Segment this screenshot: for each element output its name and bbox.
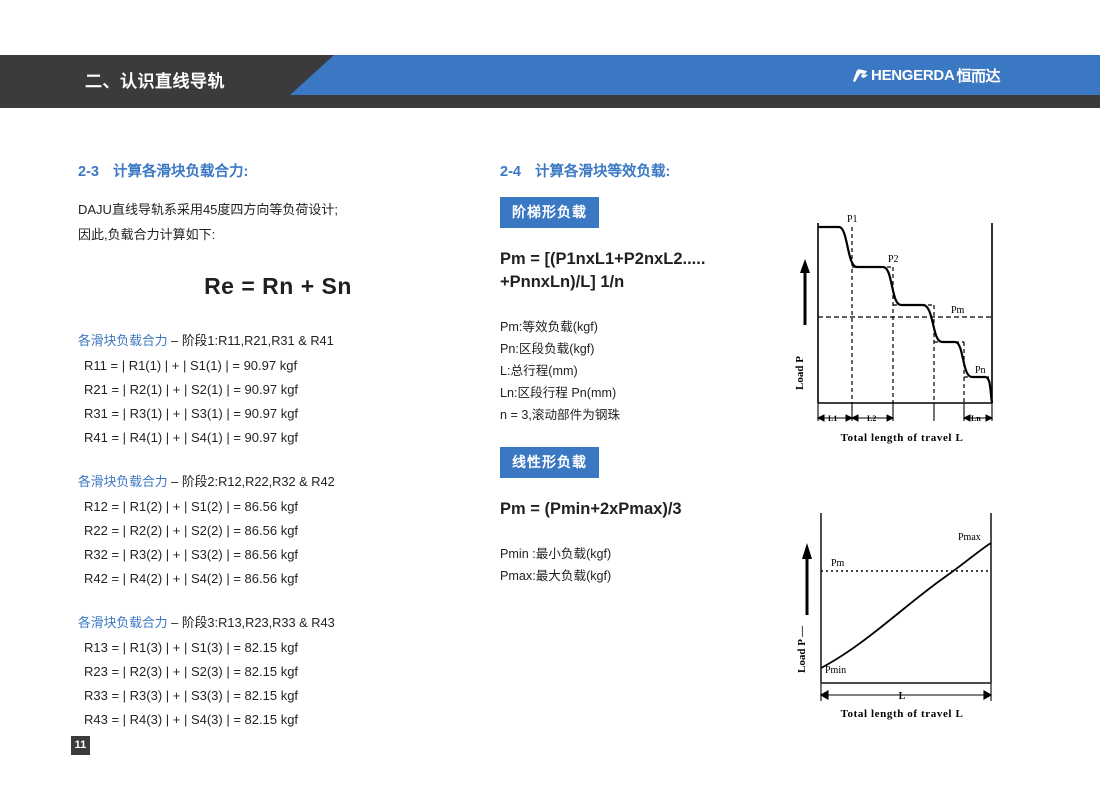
- load-equation: R13 = | R1(3) | + | S1(3) | = 82.15 kgf: [78, 636, 478, 660]
- load-equation: R11 = | R1(1) | + | S1(1) | = 90.97 kgf: [78, 354, 478, 378]
- group-heading-blue: 各滑块负载合力: [78, 615, 168, 630]
- linear-load-badge: 线性形负载: [500, 447, 599, 478]
- definition-item: Pmin :最小负载(kgf): [500, 543, 800, 565]
- formula-line-1: Pm = [(P1nxL1+P2nxL2.....: [500, 248, 800, 271]
- label-pmin: Pmin: [825, 665, 846, 676]
- length-dimension: [821, 683, 991, 701]
- formula-line-2: +PnnxLn)/L] 1/n: [500, 271, 800, 294]
- definition-item: Pn:区段负载(kgf): [500, 338, 800, 360]
- load-equation: R22 = | R2(2) | + | S2(2) | = 86.56 kgf: [78, 519, 478, 543]
- load-curve: [821, 543, 991, 668]
- page-title: 二、认识直线导轨: [85, 55, 225, 108]
- group-heading-dark: – 阶段2:R12,R22,R32 & R42: [171, 474, 335, 489]
- linear-load-text: 线性形负载 Pm = (Pmin+2xPmax)/3 Pmin :最小负载(kg…: [500, 447, 800, 587]
- section-title-text: 计算各滑块等效负载:: [535, 164, 670, 180]
- definition-item: n = 3,滚动部件为钢珠: [500, 404, 800, 426]
- load-equation: R42 = | R4(2) | + | S4(2) | = 86.56 kgf: [78, 567, 478, 591]
- definition-item: Pm:等效负载(kgf): [500, 316, 800, 338]
- hengerda-logo-icon: [852, 67, 869, 84]
- load-equation: R43 = | R4(3) | + | S4(3) | = 82.15 kgf: [78, 708, 478, 732]
- page-header: 二、认识直线导轨 HENGERDA 恒而达: [0, 55, 1100, 108]
- y-axis-label: Load P —: [796, 625, 808, 673]
- load-equation: R23 = | R2(3) | + | S2(3) | = 82.15 kgf: [78, 660, 478, 684]
- y-axis-arrow: [800, 259, 810, 325]
- label-pmax: Pmax: [958, 532, 981, 543]
- section-heading-2-3: 2-3计算各滑块负载合力:: [78, 160, 478, 181]
- x-axis-label: Total length of travel L: [841, 708, 964, 720]
- group-heading: 各滑块负载合力 – 阶段1:R11,R21,R31 & R41: [78, 330, 478, 349]
- definition-item: L:总行程(mm): [500, 360, 800, 382]
- right-column: 2-4计算各滑块等效负载: 阶梯形负载 Pm = [(P1nxL1+P2nxL2…: [500, 160, 1020, 587]
- section-title-text: 计算各滑块负载合力:: [113, 164, 248, 180]
- stepped-load-chart: Load P P1 P2 Pm: [795, 205, 1010, 460]
- label-pm: Pm: [831, 558, 845, 569]
- group-heading-blue: 各滑块负载合力: [78, 474, 168, 489]
- definition-item: Ln:区段行程 Pn(mm): [500, 382, 800, 404]
- label-l: L: [899, 691, 906, 702]
- label-p2: P2: [888, 254, 899, 265]
- section-number: 2-4: [500, 164, 521, 180]
- load-equation: R41 = | R4(1) | + | S4(1) | = 90.97 kgf: [78, 426, 478, 450]
- linear-load-chart: Load P — Pm Pmin Pmax L Total length of …: [795, 505, 1010, 730]
- stepped-load-formula: Pm = [(P1nxL1+P2nxL2..... +PnnxLn)/L] 1/…: [500, 248, 800, 294]
- label-pn: Pn: [975, 365, 986, 376]
- load-group-stage-3: 各滑块负载合力 – 阶段3:R13,R23,R33 & R43 R13 = | …: [78, 612, 478, 732]
- load-equation: R32 = | R3(2) | + | S3(2) | = 86.56 kgf: [78, 543, 478, 567]
- y-axis-arrow: [802, 543, 812, 615]
- load-group-stage-1: 各滑块负载合力 – 阶段1:R11,R21,R31 & R41 R11 = | …: [78, 330, 478, 450]
- load-equation: R12 = | R1(2) | + | S1(2) | = 86.56 kgf: [78, 495, 478, 519]
- page-number-badge: 11: [71, 736, 90, 755]
- label-ln: Ln: [971, 414, 981, 423]
- load-group-stage-2: 各滑块负载合力 – 阶段2:R12,R22,R32 & R42 R12 = | …: [78, 471, 478, 591]
- stepped-load-badge: 阶梯形负载: [500, 197, 599, 228]
- left-column: 2-3计算各滑块负载合力: DAJU直线导轨系采用45度四方向等负荷设计; 因此…: [78, 160, 478, 753]
- load-equation: R33 = | R3(3) | + | S3(3) | = 82.15 kgf: [78, 684, 478, 708]
- group-heading-dark: – 阶段3:R13,R23,R33 & R43: [171, 615, 335, 630]
- stepped-load-text: 阶梯形负载 Pm = [(P1nxL1+P2nxL2..... +PnnxLn)…: [500, 197, 800, 426]
- group-heading: 各滑块负载合力 – 阶段2:R12,R22,R32 & R42: [78, 471, 478, 490]
- linear-load-formula: Pm = (Pmin+2xPmax)/3: [500, 498, 800, 521]
- load-equation: R31 = | R3(1) | + | S3(1) | = 90.97 kgf: [78, 402, 478, 426]
- label-l1: L1: [828, 414, 837, 423]
- main-formula: Re = Rn + Sn: [78, 273, 478, 300]
- segment-dimension-arrows: [818, 415, 992, 421]
- load-equation: R21 = | R2(1) | + | S2(1) | = 90.97 kgf: [78, 378, 478, 402]
- y-axis-label: Load P: [795, 356, 806, 390]
- group-heading-blue: 各滑块负载合力: [78, 333, 168, 348]
- section-heading-2-4: 2-4计算各滑块等效负载:: [500, 160, 1020, 181]
- label-l2: L2: [867, 414, 876, 423]
- group-heading: 各滑块负载合力 – 阶段3:R13,R23,R33 & R43: [78, 612, 478, 631]
- label-p1: P1: [847, 214, 858, 225]
- intro-line-2: 因此,负载合力计算如下:: [78, 222, 478, 247]
- x-axis-label: Total length of travel L: [841, 432, 964, 444]
- brand-name-text: HENGERDA: [871, 67, 954, 84]
- intro-line-1: DAJU直线导轨系采用45度四方向等负荷设计;: [78, 197, 478, 222]
- label-pm: Pm: [951, 305, 965, 316]
- brand-logo: HENGERDA 恒而达: [852, 55, 1000, 95]
- section-number: 2-3: [78, 164, 99, 180]
- group-heading-dark: – 阶段1:R11,R21,R31 & R41: [171, 333, 334, 348]
- brand-name-cn: 恒而达: [956, 65, 1000, 86]
- definition-item: Pmax:最大负载(kgf): [500, 565, 800, 587]
